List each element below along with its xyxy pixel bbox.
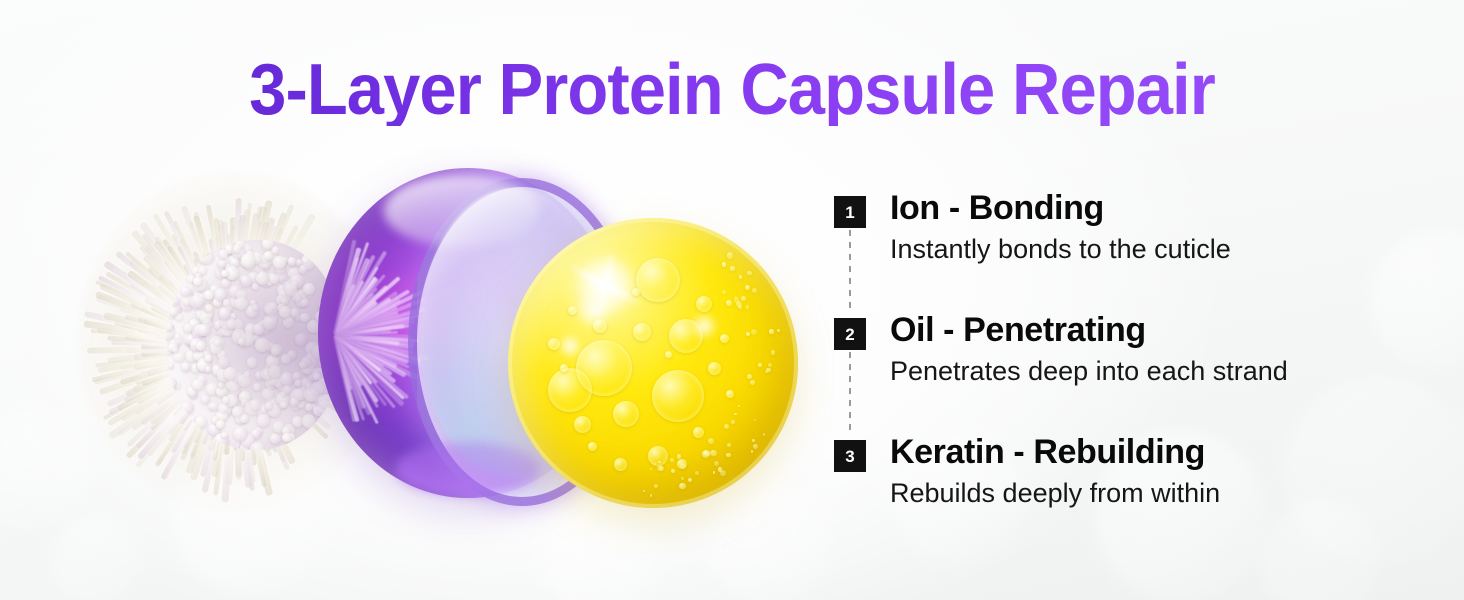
fiber-bead [170, 296, 179, 305]
oil-bubble [708, 362, 721, 375]
feature-connector-2 [849, 352, 851, 436]
fiber-bead [233, 244, 242, 253]
oil-specular [557, 333, 583, 359]
fiber-bead [199, 250, 213, 264]
oil-microbubble [671, 469, 675, 473]
fiber-bead [192, 379, 204, 391]
oil-microbubble [657, 465, 663, 471]
oil-microbubble [771, 350, 775, 354]
oil-microbubble [745, 285, 750, 290]
oil-bubble [613, 401, 639, 427]
fiber-bead [166, 378, 176, 388]
background-bubble [1260, 500, 1380, 600]
feature-heading-3: Keratin - Rebuilding [890, 432, 1390, 472]
feature-text-3: Keratin - Rebuilding Rebuilds deeply fro… [890, 432, 1390, 510]
fiber-bead [184, 323, 193, 332]
fiber-bead [181, 362, 191, 372]
feature-badge-3: 3 [834, 440, 866, 472]
oil-microbubble [714, 461, 719, 466]
oil-bubble [665, 351, 672, 358]
oil-microbubble [758, 363, 761, 366]
feature-list: 1 Ion - Bonding Instantly bonds to the c… [834, 192, 1394, 436]
oil-microbubble [681, 477, 683, 479]
oil-bubble [652, 370, 704, 422]
fiber-bead [216, 420, 225, 429]
oil-bubble [588, 442, 597, 451]
oil-microbubble [731, 420, 735, 424]
feature-badge-2: 2 [834, 318, 866, 350]
feature-heading-2: Oil - Penetrating [890, 310, 1390, 350]
fiber-bead [172, 347, 178, 353]
product-illustration [60, 130, 820, 580]
oil-bubble [614, 458, 627, 471]
oil-bubble [726, 390, 734, 398]
oil-microbubble [722, 290, 726, 294]
feature-badge-1: 1 [834, 196, 866, 228]
fiber-bead [201, 395, 210, 404]
oil-microbubble [708, 438, 714, 444]
oil-bubble [633, 323, 651, 341]
oil-bubble [548, 368, 592, 412]
feature-item-1: 1 Ion - Bonding Instantly bonds to the c… [834, 192, 1394, 314]
oil-microbubble [753, 444, 758, 449]
oil-specular [689, 311, 719, 341]
oil-bubble [560, 364, 568, 372]
oil-bubble [636, 258, 680, 302]
fiber-bead [166, 322, 173, 330]
oil-bubble [720, 334, 729, 343]
oil-microbubble [739, 275, 742, 278]
fiber-bead [198, 324, 211, 337]
oil-microbubble [751, 450, 753, 452]
oil-microbubble [769, 329, 773, 333]
fiber-bead [190, 295, 203, 308]
oil-microbubble [752, 288, 757, 293]
oil-microbubble [704, 451, 710, 457]
fiber-bead [193, 277, 203, 287]
oil-droplet-body [508, 218, 798, 508]
feature-text-1: Ion - Bonding Instantly bonds to the cut… [890, 188, 1390, 266]
fiber-bead [250, 442, 264, 450]
fiber-bead [221, 270, 229, 278]
oil-microbubble [763, 433, 766, 436]
feature-subtitle-1: Instantly bonds to the cuticle [890, 233, 1390, 265]
oil-highlight-glow [574, 254, 636, 316]
oil-microbubble [746, 305, 750, 309]
feature-text-2: Oil - Penetrating Penetrates deep into e… [890, 310, 1390, 388]
oil-bubble [696, 296, 712, 312]
page-title: 3-Layer Protein Capsule Repair [51, 54, 1413, 126]
oil-microbubble [688, 478, 692, 482]
fiber-bead [219, 249, 229, 259]
fiber-bead [181, 286, 191, 296]
oil-microbubble [768, 363, 771, 366]
fiber-bead [200, 313, 211, 324]
fiber-bead [204, 290, 214, 300]
oil-microbubble [679, 483, 685, 489]
feature-subtitle-2: Penetrates deep into each strand [890, 355, 1390, 387]
feature-connector-1 [849, 230, 851, 314]
product-benefit-banner: 3-Layer Protein Capsule Repair [0, 0, 1464, 600]
fiber-bead [196, 341, 207, 352]
feature-item-2: 2 Oil - Penetrating Penetrates deep into… [834, 314, 1394, 436]
oil-bubble [693, 427, 704, 438]
oil-bubble [574, 416, 591, 433]
oil-microbubble [747, 374, 752, 379]
fiber-bead [205, 366, 211, 372]
fiber-bead [169, 307, 178, 316]
fiber-bead [168, 363, 175, 370]
oil-microbubble [727, 252, 733, 258]
yellow-oil-droplet [508, 218, 798, 508]
feature-subtitle-3: Rebuilds deeply from within [890, 477, 1390, 509]
fiber-bead [195, 416, 207, 428]
fiber-bead [180, 401, 193, 414]
oil-microbubble [727, 443, 731, 447]
oil-microbubble [677, 454, 681, 458]
oil-microbubble [746, 332, 750, 336]
oil-microbubble [766, 368, 770, 372]
feature-heading-1: Ion - Bonding [890, 188, 1390, 228]
oil-microbubble [718, 467, 722, 471]
